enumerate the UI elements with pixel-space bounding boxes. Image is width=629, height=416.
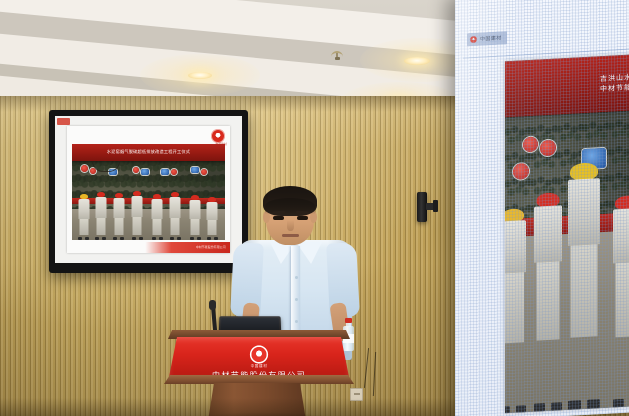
- slide-footer: 中材节能股份有限公司: [67, 242, 230, 253]
- podium-front-panel: 中国建材 中材节能股份有限公司: [169, 337, 349, 377]
- nose: [287, 220, 294, 231]
- led-worker: [505, 208, 526, 413]
- led-worker: [568, 162, 600, 410]
- slide-worker: [113, 193, 124, 240]
- slide-worker: [95, 192, 106, 240]
- led-worker: [613, 195, 629, 408]
- podium-logo-icon: [252, 347, 267, 362]
- led-logo-label: 中国建材: [480, 34, 502, 42]
- slide-worker: [170, 192, 181, 240]
- slide-photo: 水泥窑烟气脱硫超低排放改造工程开工仪式: [72, 144, 225, 239]
- slide-worker: [78, 194, 89, 240]
- led-video-wall[interactable]: 中国建材 吉洪山水 中材节能: [455, 0, 629, 416]
- led-logo-badge: 中国建材: [467, 31, 507, 46]
- photo-scene: 中国建材 水泥窑烟气脱硫超低排放改造工程开工仪式: [0, 0, 629, 416]
- slide-worker: [190, 195, 201, 240]
- led-banner-line2: 中材节能: [600, 83, 629, 95]
- mouth: [282, 234, 299, 237]
- bottle-cap: [345, 318, 352, 323]
- downlight-icon: [188, 72, 212, 79]
- slide-worker: [152, 194, 163, 240]
- led-logo-icon: [470, 36, 477, 43]
- slide-worker: [132, 191, 143, 240]
- sprinkler-icon: [331, 50, 343, 60]
- tv-brand-badge: [57, 118, 70, 125]
- slide-logo-icon: [211, 129, 225, 143]
- downlight-icon: [404, 57, 430, 65]
- eye-right: [297, 216, 308, 220]
- led-photo: 吉洪山水 中材节能: [505, 54, 629, 413]
- slide-worker: [207, 197, 218, 240]
- podium-logo-label: 中国建材: [251, 364, 268, 369]
- tv-screen: 中国建材 水泥窑烟气脱硫超低排放改造工程开工仪式: [55, 116, 242, 263]
- floor-shadow: [0, 398, 455, 416]
- ceremony-banner-text: 水泥窑烟气脱硫超低排放改造工程开工仪式: [72, 144, 225, 160]
- led-worker: [534, 192, 562, 412]
- podium-ledge: [164, 375, 354, 384]
- wall-mounted-tv[interactable]: 中国建材 水泥窑烟气脱硫超低排放改造工程开工仪式: [49, 110, 248, 273]
- speaker-wall-mount: [433, 200, 438, 212]
- eye-left: [273, 216, 284, 220]
- microphone-head[interactable]: [209, 300, 216, 310]
- slide-footer-label: 中材节能股份有限公司: [196, 245, 226, 249]
- presentation-slide: 中国建材 水泥窑烟气脱硫超低排放改造工程开工仪式: [67, 126, 230, 252]
